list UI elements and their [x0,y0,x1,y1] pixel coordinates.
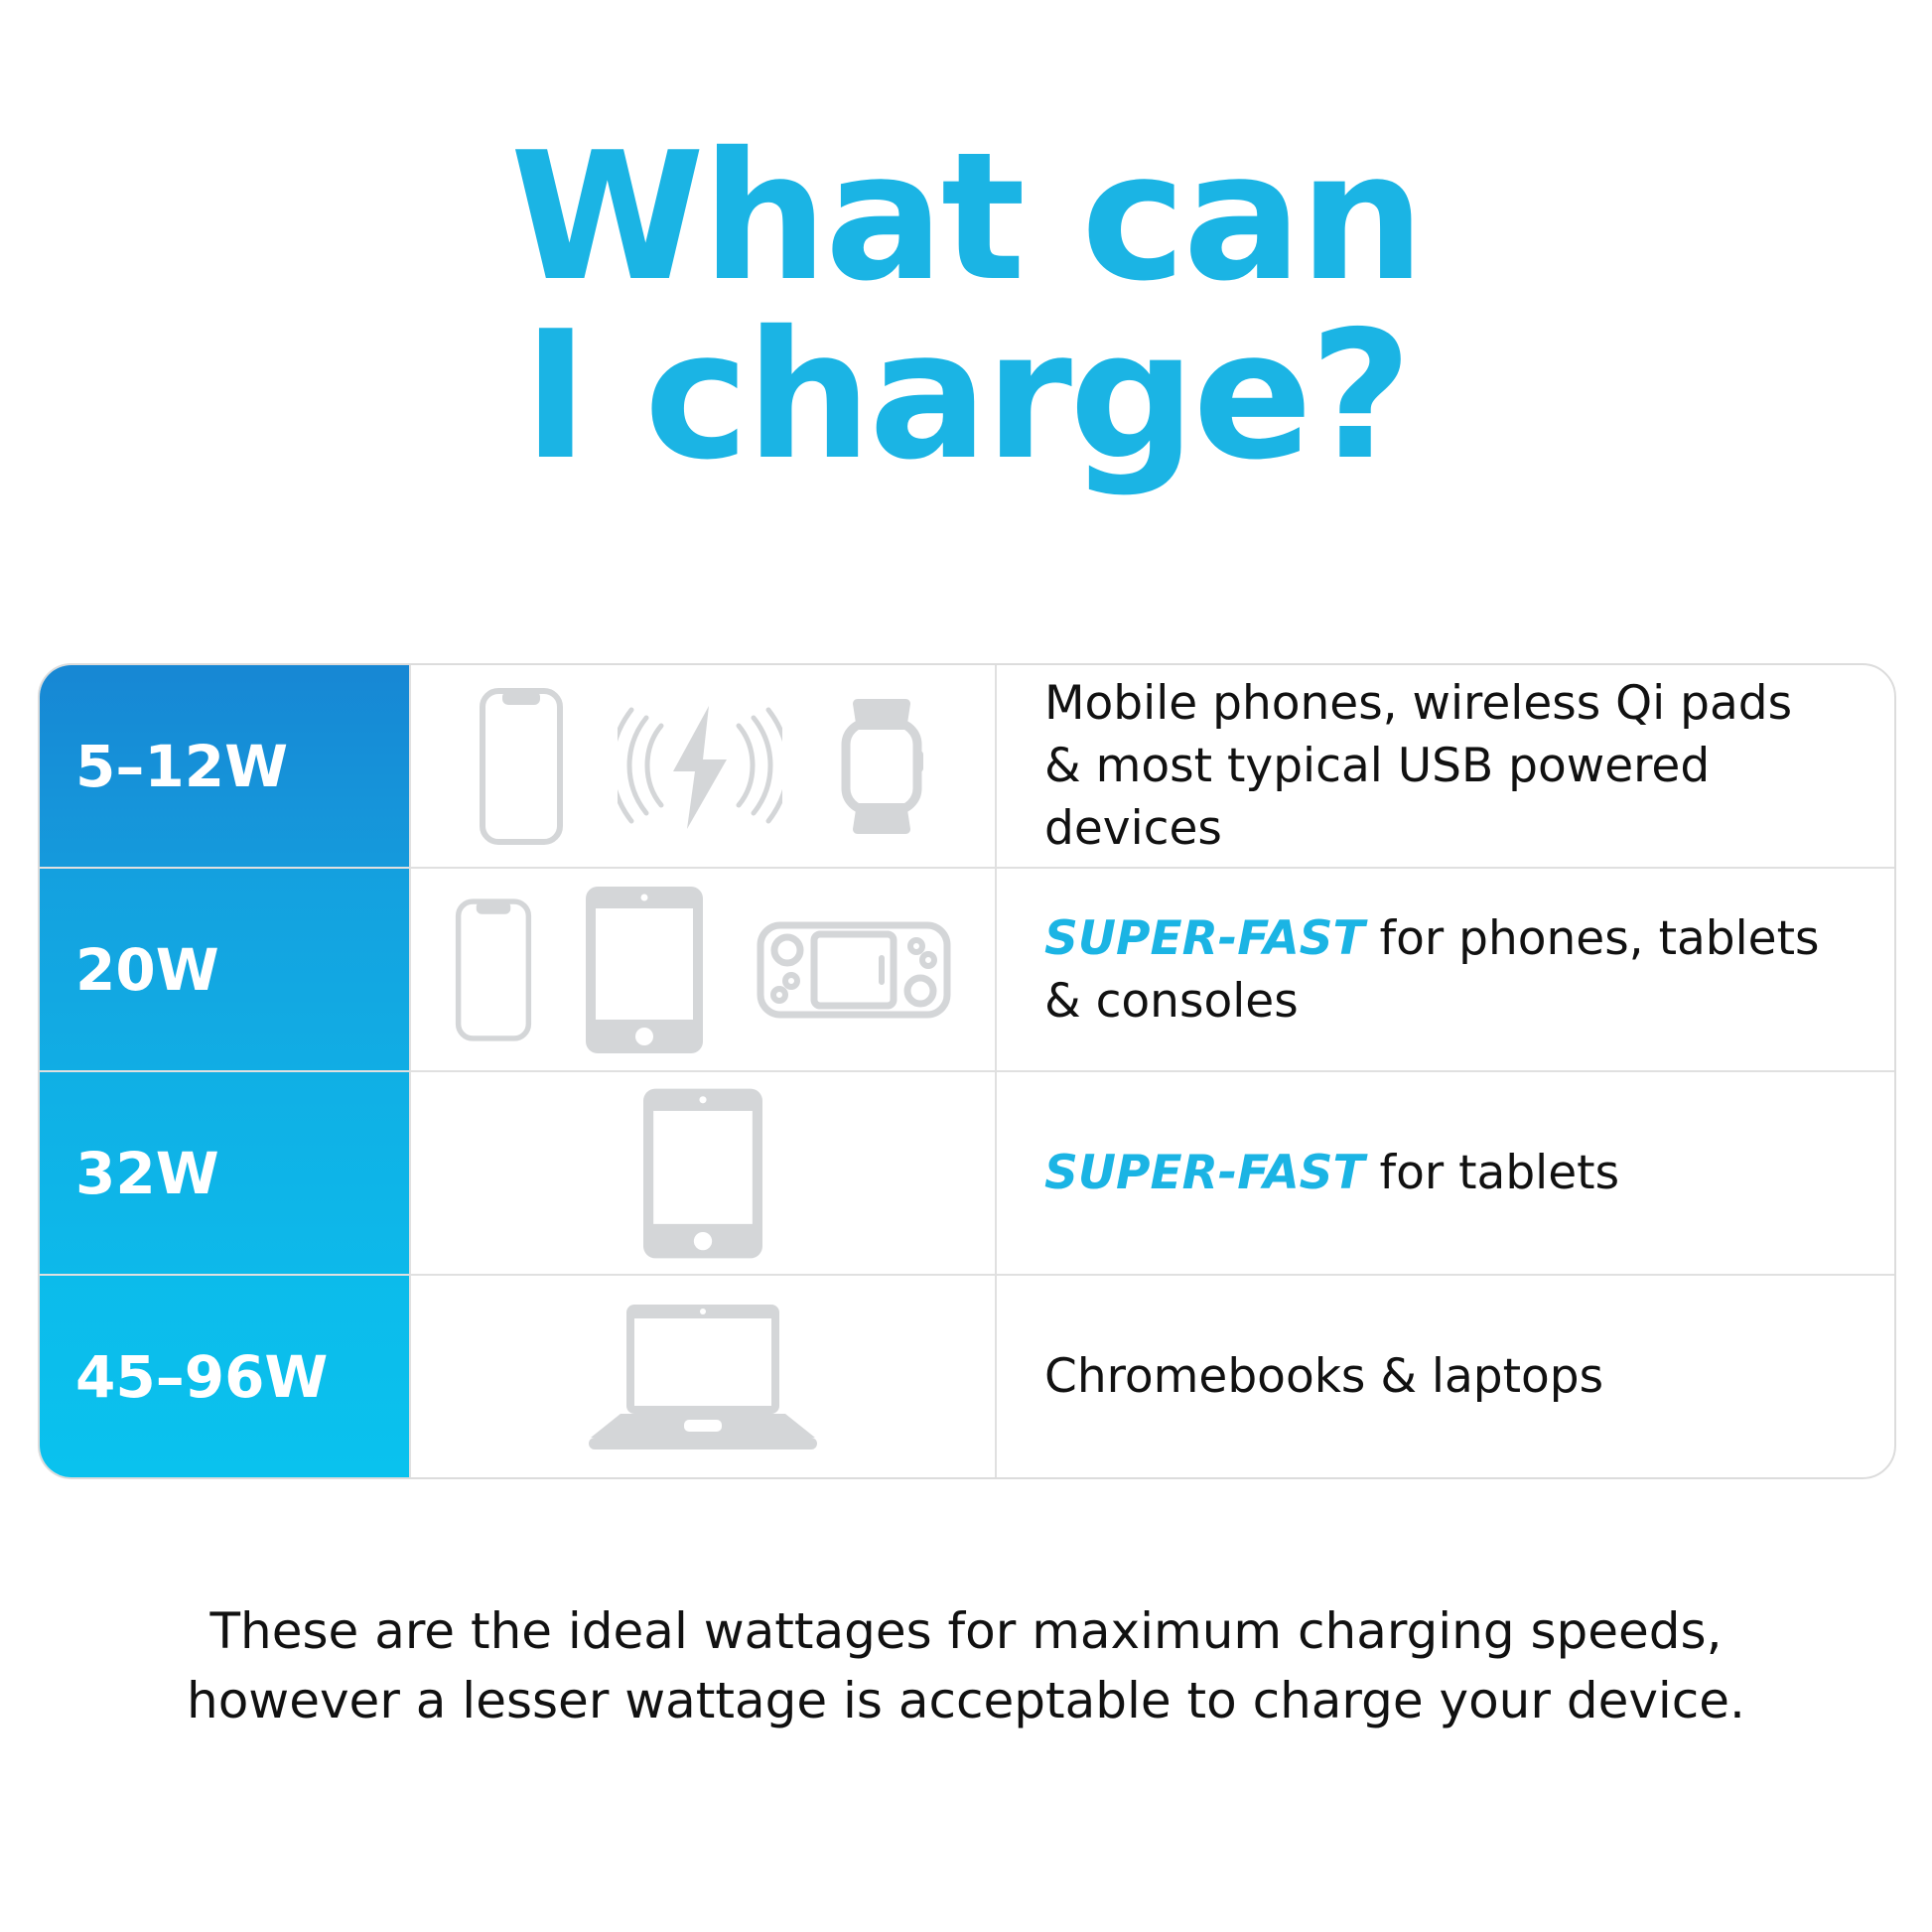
table-row: 45–96W Chromebooks & laptops [40,1276,1894,1477]
wattage-table: 5–12W [38,663,1896,1479]
table-row: 20W [40,869,1894,1072]
device-icons-cell [409,1276,997,1477]
device-icons-cell [409,869,997,1070]
description-text: Chromebooks & laptops [1044,1345,1603,1408]
phone-icon [479,687,564,846]
wattage-label: 45–96W [75,1348,328,1406]
device-icons-cell [409,1072,997,1274]
description-cell: SUPER-FAST for phones, tablets & console… [997,869,1894,1070]
device-icons-cell [409,665,997,867]
description-text: SUPER-FAST for tablets [1044,1142,1619,1204]
phone-icon [455,897,532,1043]
title-line-2: I charge? [0,318,1932,475]
table-row: 32W SUPER-FAST for tablets [40,1072,1894,1276]
footer-note: These are the ideal wattages for maximum… [0,1596,1932,1735]
title-line-1: What can [0,139,1932,296]
wattage-cell: 20W [40,869,409,1070]
wattage-cell: 5–12W [40,665,409,867]
description-text: Mobile phones, wireless Qi pads & most t… [1044,672,1870,860]
wattage-label: 32W [75,1145,219,1202]
description-cell: SUPER-FAST for tablets [997,1072,1894,1274]
wattage-label: 5–12W [75,738,288,795]
wireless-charging-icon [618,700,782,833]
wattage-label: 20W [75,941,219,999]
description-line-1: Chromebooks & laptops [1044,1349,1603,1404]
tablet-icon [643,1088,762,1259]
description-line-1: for tablets [1365,1146,1619,1200]
game-console-icon [757,915,951,1025]
footer-line-1: These are the ideal wattages for maximum… [0,1596,1932,1666]
wattage-cell: 32W [40,1072,409,1274]
super-fast-badge: SUPER-FAST [1044,911,1365,966]
tablet-icon [586,887,703,1053]
description-cell: Mobile phones, wireless Qi pads & most t… [997,665,1894,867]
super-fast-badge: SUPER-FAST [1044,1146,1365,1200]
laptop-icon [585,1303,821,1451]
description-line-1: Mobile phones, wireless Qi pads [1044,676,1792,731]
footer-line-2: however a lesser wattage is acceptable t… [0,1666,1932,1735]
description-line-2: & consoles [1044,974,1299,1029]
table-row: 5–12W [40,665,1894,869]
description-line-2: & most typical USB powered devices [1044,739,1710,856]
infographic-page: What can I charge? 5–12W [0,0,1932,1932]
description-cell: Chromebooks & laptops [997,1276,1894,1477]
page-title: What can I charge? [0,139,1932,475]
description-text: SUPER-FAST for phones, tablets & console… [1044,907,1820,1033]
smartwatch-icon [836,693,927,840]
description-line-1: for phones, tablets [1365,911,1820,966]
wattage-cell: 45–96W [40,1276,409,1477]
